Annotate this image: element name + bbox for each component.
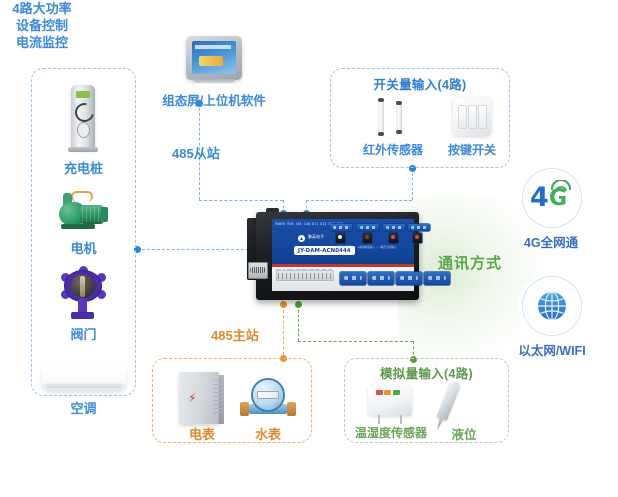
badge-4g[interactable]: 4 G: [522, 168, 582, 228]
switch-key-1: [458, 105, 467, 129]
item-label-motor: 电机: [31, 238, 136, 257]
group-title-analog-input: 模拟量输入(4路): [344, 363, 509, 382]
line-control-horizontal: [137, 249, 254, 250]
high-power-line-2: 设备控制: [0, 17, 84, 34]
relay-led-2: [365, 235, 369, 239]
air-conditioner-illustration: [42, 360, 126, 394]
line-analog-horizontal: [298, 341, 413, 342]
load-terminal-2: [368, 272, 394, 285]
cabinet-vents: [214, 380, 222, 414]
item-label-water-meter: 水表: [237, 424, 299, 443]
db9-connector: [248, 262, 268, 279]
ths-leg-left: [378, 415, 380, 424]
ths-led-green: [393, 390, 400, 395]
electric-meter-illustration: ⚡: [179, 372, 225, 424]
water-meter-illustration: [240, 378, 296, 420]
motor-illustration: [53, 188, 115, 232]
item-label-charging-pile: 充电桩: [31, 158, 136, 177]
line-485-master-vertical: [283, 305, 284, 360]
connector-label-high-power: 4路大功率 设备控制 电流监控: [0, 0, 84, 51]
load-terminal-1: [340, 272, 366, 285]
ths-led-red: [376, 390, 383, 395]
motor-pipe: [71, 191, 93, 202]
valve-base: [71, 312, 94, 319]
item-label-electric-meter: 电表: [171, 424, 233, 443]
pile-base: [68, 147, 98, 152]
communication-title: 通讯方式: [438, 252, 502, 273]
load-terminal-3: [396, 272, 422, 285]
ac-body: [42, 366, 126, 391]
device-brand: 聚英电子: [308, 235, 324, 239]
hmi-panel-illustration: [186, 36, 242, 86]
line-di-horizontal: [306, 200, 412, 201]
line-analog-vertical: [298, 305, 299, 341]
output-terminal-1: [330, 224, 352, 231]
liquid-level-illustration: [443, 382, 477, 426]
badge-ethernet-wifi[interactable]: [522, 276, 582, 336]
item-label-push-button-switch: 按键开关: [441, 141, 503, 158]
hmi-label: 组态屏/上位机软件: [146, 90, 282, 109]
valve-illustration: [56, 268, 110, 320]
warning-icon: ⚡: [188, 392, 196, 404]
item-label-air-conditioner: 空调: [31, 398, 136, 417]
cabinet-body: [179, 372, 219, 424]
motor-cap: [101, 207, 108, 222]
controller-device[interactable]: POWER RUN 485 CAN DI1 DI2 DI3 DI4 聚英电子 J…: [256, 212, 419, 307]
output-terminal-2: [357, 224, 379, 231]
badge-label-ethernet-wifi: 以太网/WIFI: [500, 340, 604, 359]
badge-label-4g: 4G全网通: [510, 232, 592, 251]
push-button-switch-illustration: [453, 98, 491, 136]
relay-2: [363, 233, 372, 243]
connector-label-485-master: 485主站: [211, 325, 259, 344]
temp-humidity-sensor-illustration: [368, 382, 414, 426]
line-hmi-horizontal: [199, 200, 283, 201]
high-power-line-3: 电流监控: [0, 34, 84, 51]
pile-socket: [77, 122, 90, 138]
diagram-canvas: 485从站 4路大功率 设备控制 电流监控 485主站 组态屏/上位机软件 充电…: [0, 0, 618, 497]
group-title-digital-input: 开关量输入(4路): [330, 74, 510, 93]
line-di-vertical: [412, 168, 413, 200]
pile-display: [76, 91, 90, 98]
water-meter-flange-left: [240, 402, 249, 416]
water-meter-dial: [253, 380, 283, 410]
hmi-screen: [192, 41, 236, 74]
switch-key-2: [468, 105, 477, 129]
item-label-infrared-sensor: 红外传感器: [349, 141, 437, 158]
output-terminal-4: [408, 224, 430, 231]
ir-beam-left: [378, 98, 384, 136]
relay-4: [413, 233, 422, 243]
item-label-temp-humidity-sensor: 温湿度传感器: [349, 424, 433, 441]
charging-pile-illustration: [71, 85, 101, 153]
high-power-line-1: 4路大功率: [0, 0, 84, 17]
output-terminal-3: [383, 224, 405, 231]
globe-icon: [535, 289, 569, 323]
item-label-liquid-level: 液位: [440, 424, 488, 443]
relay-led-3: [391, 235, 395, 239]
load-terminal-4: [424, 272, 450, 285]
device-chassis: POWER RUN 485 CAN DI1 DI2 DI3 DI4 聚英电子 J…: [256, 212, 419, 300]
4g-number: 4: [530, 184, 549, 211]
input-terminal-strip: [276, 270, 334, 281]
connector-label-485-slave: 485从站: [172, 143, 220, 162]
device-faceplate-top: POWER RUN 485 CAN DI1 DI2 DI3 DI4 聚英电子 J…: [272, 219, 414, 264]
relay-3: [389, 233, 398, 243]
brand-logo-icon: [298, 235, 305, 242]
motor-foot: [61, 224, 95, 229]
relay-led-1: [338, 235, 342, 239]
hmi-stand: [193, 79, 235, 83]
infrared-sensor-illustration: [375, 98, 409, 136]
relay-1: [336, 233, 345, 243]
relay-led-4: [415, 235, 419, 239]
water-meter-flange-right: [287, 402, 296, 416]
device-fine-print-right: 4路继电器输出 / 4路模拟量输入 / 4路开关量输入: [336, 246, 397, 249]
4g-signal-icon: 4 G: [530, 183, 574, 213]
ths-led-orange: [384, 390, 391, 395]
switch-key-3: [478, 105, 487, 129]
ths-leg-right: [400, 415, 402, 424]
item-label-valve: 阀门: [31, 324, 136, 343]
ir-beam-right: [396, 101, 402, 134]
